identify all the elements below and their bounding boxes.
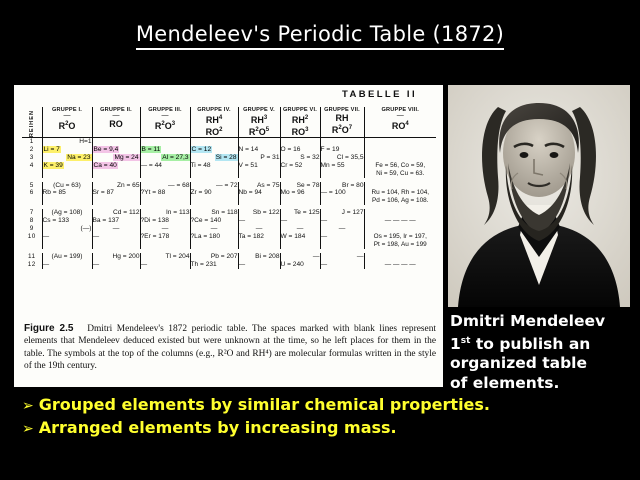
cell-g1: (Ag = 108): [42, 209, 92, 217]
cell-g1: (Cu = 63): [42, 182, 92, 190]
cell-g6: Mo = 96: [280, 189, 320, 205]
cell-g3: ?Di = 138: [140, 217, 190, 225]
portrait-name: Dmitri Mendeleev: [450, 312, 640, 332]
group-formula-top: RH3: [239, 113, 280, 125]
cell-g3: Tl = 204: [140, 253, 190, 261]
bullet-text: Arranged elements by increasing mass.: [39, 417, 397, 439]
group-header-1: GRUPPE I. — R2O: [42, 107, 92, 138]
highlight-pink: Ca = 40: [93, 162, 118, 169]
group-formula: RO2: [191, 125, 238, 137]
arrow-bullet-icon: ➢: [22, 395, 34, 417]
cell-g6: [280, 138, 320, 146]
cell-g5: Sb = 122: [238, 209, 280, 217]
cell-g8: [364, 209, 436, 217]
cell-g4: Pb = 207: [190, 253, 238, 261]
cell-g1: —: [42, 261, 92, 269]
cell-g2: Zn = 65: [92, 182, 140, 190]
cell-g6: W = 184: [280, 233, 320, 249]
row-number: 10: [22, 233, 42, 249]
cell-g4: Sn = 118: [190, 209, 238, 217]
group-formula: R2O5: [239, 125, 280, 137]
table-row: 7 (Ag = 108) Cd = 112 In = 113 Sn = 118 …: [22, 209, 436, 217]
tabelle-heading: TABELLE II: [342, 89, 417, 100]
highlight-cyan: Si = 28: [215, 154, 238, 161]
cell-g6: —: [280, 253, 320, 261]
arrow-bullet-icon: ➢: [22, 418, 34, 440]
cell-g8: [364, 253, 436, 261]
table-row: 2 Li = 7 Be = 9,4 B = 11 C = 12 N = 14 O…: [22, 146, 436, 154]
cell-g3: Al = 27,3: [140, 154, 190, 162]
cell-g4: Ti = 48: [190, 162, 238, 178]
cell-g1: —: [42, 233, 92, 249]
highlight-yellow: Na = 23: [66, 154, 91, 161]
cell-g5: V = 51: [238, 162, 280, 178]
cell-g6: O = 16: [280, 146, 320, 154]
cell-g1: (Au = 199): [42, 253, 92, 261]
cell-g4: ?Ce = 140: [190, 217, 238, 225]
portrait-caption: Dmitri Mendeleev 1st to publish an organ…: [450, 312, 640, 393]
cell-g7: F = 19: [320, 146, 364, 154]
figure-panel: TABELLE II REIHEN GRUPPE I. — R2O: [14, 85, 443, 387]
group-header-5: GRUPPE V. RH3 R2O5: [238, 107, 280, 138]
table-body: 1 H=1 2 Li = 7 Be = 9,4 B = 11 C = 12: [22, 138, 436, 269]
mendeleev-portrait: [448, 85, 630, 307]
table-header-row: REIHEN GRUPPE I. — R2O GRUPPE II. — RO G…: [22, 107, 436, 138]
highlight-green: B = 11: [141, 146, 162, 153]
reihen-header: REIHEN: [22, 107, 42, 138]
cell-g3: — = 68: [140, 182, 190, 190]
figure-caption: Figure 2.5 Dmitri Mendeleev's 1872 perio…: [24, 323, 436, 373]
cell-g2: —: [92, 233, 140, 249]
row-number: 1: [22, 138, 42, 146]
portrait-line-2: 1st to publish an: [450, 332, 640, 355]
row-number: 2: [22, 146, 42, 154]
highlight-pink: Mg = 24: [113, 154, 139, 161]
cell-g5: Bi = 208: [238, 253, 280, 261]
highlight-cyan: C = 12: [191, 146, 213, 153]
cell-g4: Zr = 90: [190, 189, 238, 205]
highlight-yellow: Li = 7: [43, 146, 61, 153]
cell-g6: —: [280, 225, 320, 233]
cell-g3: B = 11: [140, 146, 190, 154]
cell-g3: —: [140, 261, 190, 269]
table-row: 8 Cs = 133 Ba = 137 ?Di = 138 ?Ce = 140 …: [22, 217, 436, 225]
cell-g4: C = 12: [190, 146, 238, 154]
cell-g5: [238, 138, 280, 146]
cell-g7: J = 127: [320, 209, 364, 217]
page-title-text: Mendeleev's Periodic Table (1872): [136, 22, 504, 50]
table-row: 11 (Au = 199) Hg = 200 Tl = 204 Pb = 207…: [22, 253, 436, 261]
cell-g1: H=1: [42, 138, 92, 146]
group-formula: RO3: [281, 125, 320, 137]
cell-g7: —: [320, 225, 364, 233]
group-formula: RO4: [365, 119, 437, 131]
cell-g2: Be = 9,4: [92, 146, 140, 154]
cell-g8: [364, 225, 436, 233]
cell-g2: Mg = 24: [92, 154, 140, 162]
cell-g2: Ba = 137: [92, 217, 140, 225]
cell-g1: Rb = 85: [42, 189, 92, 205]
cell-g1: Li = 7: [42, 146, 92, 154]
portrait-line-3: organized table: [450, 354, 640, 374]
cell-g7: — = 100: [320, 189, 364, 205]
table-row: 6 Rb = 85 Sr = 87 ?Yt = 88 Zr = 90 Nb = …: [22, 189, 436, 205]
group-formula: RO: [93, 119, 140, 129]
cell-g5: As = 75: [238, 182, 280, 190]
cell-g2: Sr = 87: [92, 189, 140, 205]
cell-g4: ?La = 180: [190, 233, 238, 249]
cell-g5: Ta = 182: [238, 233, 280, 249]
cell-g8: Ru = 104, Rh = 104, Pd = 106, Ag = 108.: [364, 189, 436, 205]
row-number: 7: [22, 209, 42, 217]
cell-g7: Br = 80: [320, 182, 364, 190]
cell-g6: Te = 125: [280, 209, 320, 217]
cell-g2: Cd = 112: [92, 209, 140, 217]
row-number: 4: [22, 162, 42, 178]
table-row: 10 — — ?Er = 178 ?La = 180 Ta = 182 W = …: [22, 233, 436, 249]
list-item: ➢ Grouped elements by similar chemical p…: [22, 394, 636, 417]
cell-g7: —: [320, 253, 364, 261]
group-formula-top: RH2: [281, 113, 320, 125]
cell-g8: [364, 154, 436, 162]
figure-caption-text: Dmitri Mendeleev's 1872 periodic table. …: [24, 324, 436, 371]
cell-g5: —: [238, 225, 280, 233]
cell-g7: Mn = 55: [320, 162, 364, 178]
cell-g8: [364, 138, 436, 146]
cell-g1: Cs = 133: [42, 217, 92, 225]
cell-g4: —: [190, 225, 238, 233]
cell-g6: Se = 78: [280, 182, 320, 190]
bullet-text: Grouped elements by similar chemical pro…: [39, 394, 490, 416]
table-row: 5 (Cu = 63) Zn = 65 — = 68 — = 72 As = 7…: [22, 182, 436, 190]
highlight-green: Al = 27,3: [161, 154, 189, 161]
cell-g2: Ca = 40: [92, 162, 140, 178]
cell-g1: (—): [42, 225, 92, 233]
cell-g3: — = 44: [140, 162, 190, 178]
cell-g3: ?Er = 178: [140, 233, 190, 249]
row-number: 9: [22, 225, 42, 233]
cell-g5: N = 14: [238, 146, 280, 154]
cell-g1: K = 39: [42, 162, 92, 178]
group-formula: R2O7: [321, 123, 364, 135]
group-header-6: GRUPPE VI. RH2 RO3: [280, 107, 320, 138]
cell-g5: Nb = 94: [238, 189, 280, 205]
group-formula-top: RH4: [191, 113, 238, 125]
cell-g8: — — — —: [364, 217, 436, 225]
row-number: 11: [22, 253, 42, 261]
cell-g3: [140, 138, 190, 146]
row-number: 8: [22, 217, 42, 225]
table-row: 4 K = 39 Ca = 40 — = 44 Ti = 48 V = 51 C…: [22, 162, 436, 178]
portrait-line-4: of elements.: [450, 374, 640, 394]
group-header-4: GRUPPE IV. RH4 RO2: [190, 107, 238, 138]
cell-g5: P = 31: [238, 154, 280, 162]
cell-g3: —: [140, 225, 190, 233]
cell-g2: —: [92, 261, 140, 269]
group-formula: R2O: [43, 119, 92, 131]
row-number: 12: [22, 261, 42, 269]
cell-g3: ?Yt = 88: [140, 189, 190, 205]
cell-g7: Cl = 35,5: [320, 154, 364, 162]
cell-g6: S = 32: [280, 154, 320, 162]
row-number: 6: [22, 189, 42, 205]
periodic-table: REIHEN GRUPPE I. — R2O GRUPPE II. — RO G…: [22, 107, 436, 269]
cell-g8: [364, 182, 436, 190]
highlight-pink: Be = 9,4: [93, 146, 120, 153]
reihen-label: REIHEN: [29, 110, 35, 137]
list-item: ➢ Arranged elements by increasing mass.: [22, 417, 636, 440]
group-header-8: GRUPPE VIII. — RO4: [364, 107, 436, 138]
table-row: 1 H=1: [22, 138, 436, 146]
figure-number: Figure 2.5: [24, 323, 73, 334]
cell-g8: Os = 195, Ir = 197, Pt = 198, Au = 199: [364, 233, 436, 249]
table-row: 3 Na = 23 Mg = 24 Al = 27,3 Si = 28 P = …: [22, 154, 436, 162]
cell-g7: [320, 138, 364, 146]
row-number: 5: [22, 182, 42, 190]
cell-g7: —: [320, 261, 364, 269]
cell-g3: In = 113: [140, 209, 190, 217]
page-title: Mendeleev's Periodic Table (1872): [0, 22, 640, 46]
cell-g8: [364, 146, 436, 154]
bullet-list: ➢ Grouped elements by similar chemical p…: [22, 394, 636, 440]
cell-g4: Si = 28: [190, 154, 238, 162]
cell-g2: —: [92, 225, 140, 233]
cell-g7: —: [320, 217, 364, 225]
cell-g5: —: [238, 261, 280, 269]
row-number: 3: [22, 154, 42, 162]
cell-g6: —: [280, 217, 320, 225]
slide-root: Mendeleev's Periodic Table (1872) TABELL…: [0, 0, 640, 480]
cell-g4: Th = 231: [190, 261, 238, 269]
cell-g8: — — — —: [364, 261, 436, 269]
table-row: 9 (—) — — — — — —: [22, 225, 436, 233]
group-formula-top: RH: [321, 113, 364, 123]
table-row: 12 — — — Th = 231 — U = 240 — — — — —: [22, 261, 436, 269]
cell-g4: [190, 138, 238, 146]
cell-g7: —: [320, 233, 364, 249]
cell-g8: Fe = 56, Co = 59, Ni = 59, Cu = 63.: [364, 162, 436, 178]
cell-g6: U = 240: [280, 261, 320, 269]
cell-g2: [92, 138, 140, 146]
highlight-yellow: K = 39: [43, 162, 64, 169]
group-formula: R2O3: [141, 119, 190, 131]
group-header-7: GRUPPE VII. RH R2O7: [320, 107, 364, 138]
cell-g5: —: [238, 217, 280, 225]
group-header-3: GRUPPE III. — R2O3: [140, 107, 190, 138]
cell-g2: Hg = 200: [92, 253, 140, 261]
cell-g6: Cr = 52: [280, 162, 320, 178]
cell-g4: — = 72: [190, 182, 238, 190]
cell-g1: Na = 23: [42, 154, 92, 162]
group-header-2: GRUPPE II. — RO: [92, 107, 140, 138]
